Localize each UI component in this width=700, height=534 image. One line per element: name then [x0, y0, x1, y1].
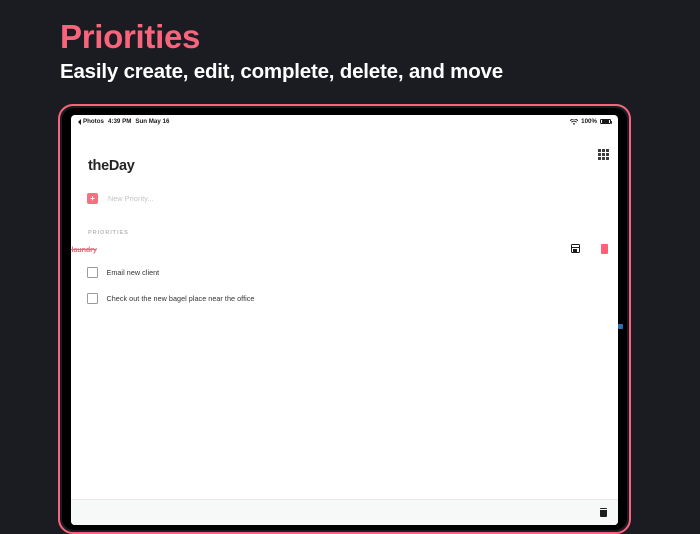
bottom-toolbar [71, 499, 618, 525]
priority-row-actions [571, 244, 609, 254]
status-bar-date: Sun May 16 [135, 118, 169, 125]
plus-icon[interactable]: + [87, 193, 98, 204]
back-app-label: Photos [83, 118, 104, 125]
wifi-icon [570, 119, 578, 125]
chevron-left-icon [78, 119, 81, 125]
new-priority-row[interactable]: + New Priority... [87, 193, 154, 204]
task-label: Check out the new bagel place near the o… [107, 294, 255, 303]
calendar-icon[interactable] [571, 244, 580, 253]
promo-screenshot: Priorities Easily create, edit, complete… [0, 0, 700, 525]
back-to-app-button[interactable]: Photos [78, 118, 104, 125]
priority-item-row[interactable]: of laundry [71, 241, 618, 261]
task-label: Email new client [107, 268, 160, 277]
status-bar-time: 4:39 PM [108, 118, 131, 125]
battery-icon [600, 119, 611, 125]
device-screen: Photos 4:39 PM Sun May 16 100% [71, 115, 618, 525]
trash-icon[interactable] [600, 508, 607, 517]
task-checkbox[interactable] [87, 293, 98, 304]
status-bar-right: 100% [570, 118, 611, 125]
app-content: theDay + New Priority... PRIORITIES of l… [71, 128, 618, 525]
status-bar-left: Photos 4:39 PM Sun May 16 [78, 118, 169, 125]
new-priority-input[interactable]: New Priority... [108, 194, 154, 203]
page-subheadline: Easily create, edit, complete, delete, a… [60, 60, 503, 85]
priority-item-label: of laundry [71, 245, 97, 254]
task-row[interactable]: Email new client [87, 267, 159, 278]
task-checkbox[interactable] [87, 267, 98, 278]
grid-menu-icon[interactable] [598, 149, 609, 160]
trash-icon[interactable] [601, 244, 609, 254]
task-row[interactable]: Check out the new bagel place near the o… [87, 293, 254, 304]
priorities-section-label: PRIORITIES [88, 230, 129, 236]
page-headline: Priorities [60, 19, 200, 55]
app-title: theDay [88, 158, 135, 174]
bezel-indicator-dot [618, 324, 623, 329]
status-bar: Photos 4:39 PM Sun May 16 100% [71, 115, 618, 128]
battery-percent-label: 100% [581, 118, 597, 125]
